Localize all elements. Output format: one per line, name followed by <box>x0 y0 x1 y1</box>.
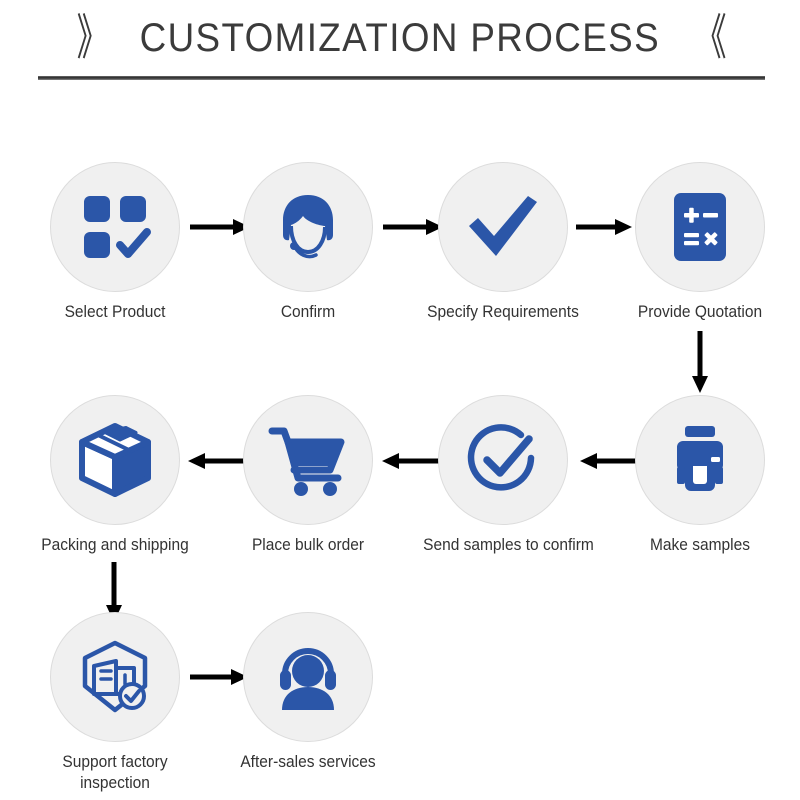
step-node-after-sales-services[interactable]: After-sales services <box>223 612 393 773</box>
step-label: Send samples to confirm <box>423 535 583 556</box>
step-label: Specify Requirements <box>423 302 583 323</box>
step-label: After-sales services <box>228 752 388 773</box>
step-label: Support factory inspection <box>35 752 195 793</box>
step-label: Place bulk order <box>228 535 388 556</box>
step-label: Confirm <box>228 302 388 323</box>
step-label: Select Product <box>35 302 195 323</box>
step-icon-circle <box>635 395 765 525</box>
step-node-support-factory-inspection[interactable]: Support factory inspection <box>30 612 200 793</box>
step-node-make-samples[interactable]: Make samples <box>615 395 785 556</box>
step-label: Packing and shipping <box>35 535 195 556</box>
step-node-place-bulk-order[interactable]: Place bulk order <box>223 395 393 556</box>
page-title: 》 CUSTOMIZATION PROCESS 《 <box>0 12 800 64</box>
step-icon-circle <box>50 395 180 525</box>
step-icon-circle <box>635 162 765 292</box>
step-icon-circle <box>243 612 373 742</box>
printer-icon <box>661 423 739 497</box>
grid-check-icon <box>78 190 152 264</box>
step-node-packing-and-shipping[interactable]: Packing and shipping <box>30 395 200 556</box>
headphones-person-icon <box>269 640 347 714</box>
checkmark-icon <box>464 188 542 266</box>
step-node-select-product[interactable]: Select Product <box>30 162 200 323</box>
step-node-confirm[interactable]: Confirm <box>223 162 393 323</box>
chevron-left-icon: 》 <box>77 14 106 63</box>
calculator-icon <box>665 189 735 265</box>
step-icon-circle <box>438 395 568 525</box>
circle-check-icon <box>463 420 543 500</box>
step-label: Provide Quotation <box>620 302 780 323</box>
title-divider <box>38 76 765 80</box>
step-icon-circle <box>50 162 180 292</box>
step-node-specify-requirements[interactable]: Specify Requirements <box>418 162 588 323</box>
step-icon-circle <box>50 612 180 742</box>
step-icon-circle <box>243 162 373 292</box>
step-icon-circle <box>438 162 568 292</box>
step-node-provide-quotation[interactable]: Provide Quotation <box>615 162 785 323</box>
header: 》 CUSTOMIZATION PROCESS 《 <box>0 0 800 92</box>
step-icon-circle <box>243 395 373 525</box>
chevron-right-icon: 《 <box>694 14 723 63</box>
page-title-text: CUSTOMIZATION PROCESS <box>140 16 660 61</box>
step-label: Make samples <box>620 535 780 556</box>
step-node-send-samples-to-confirm[interactable]: Send samples to confirm <box>418 395 588 556</box>
headset-agent-icon <box>270 189 346 265</box>
shopping-cart-icon <box>268 422 348 498</box>
customization-process-infographic: 》 CUSTOMIZATION PROCESS 《 Select Product <box>0 0 800 800</box>
factory-shield-check-icon <box>76 638 154 716</box>
arrow-quotation-to-samples <box>688 331 712 393</box>
package-box-icon <box>76 421 154 499</box>
